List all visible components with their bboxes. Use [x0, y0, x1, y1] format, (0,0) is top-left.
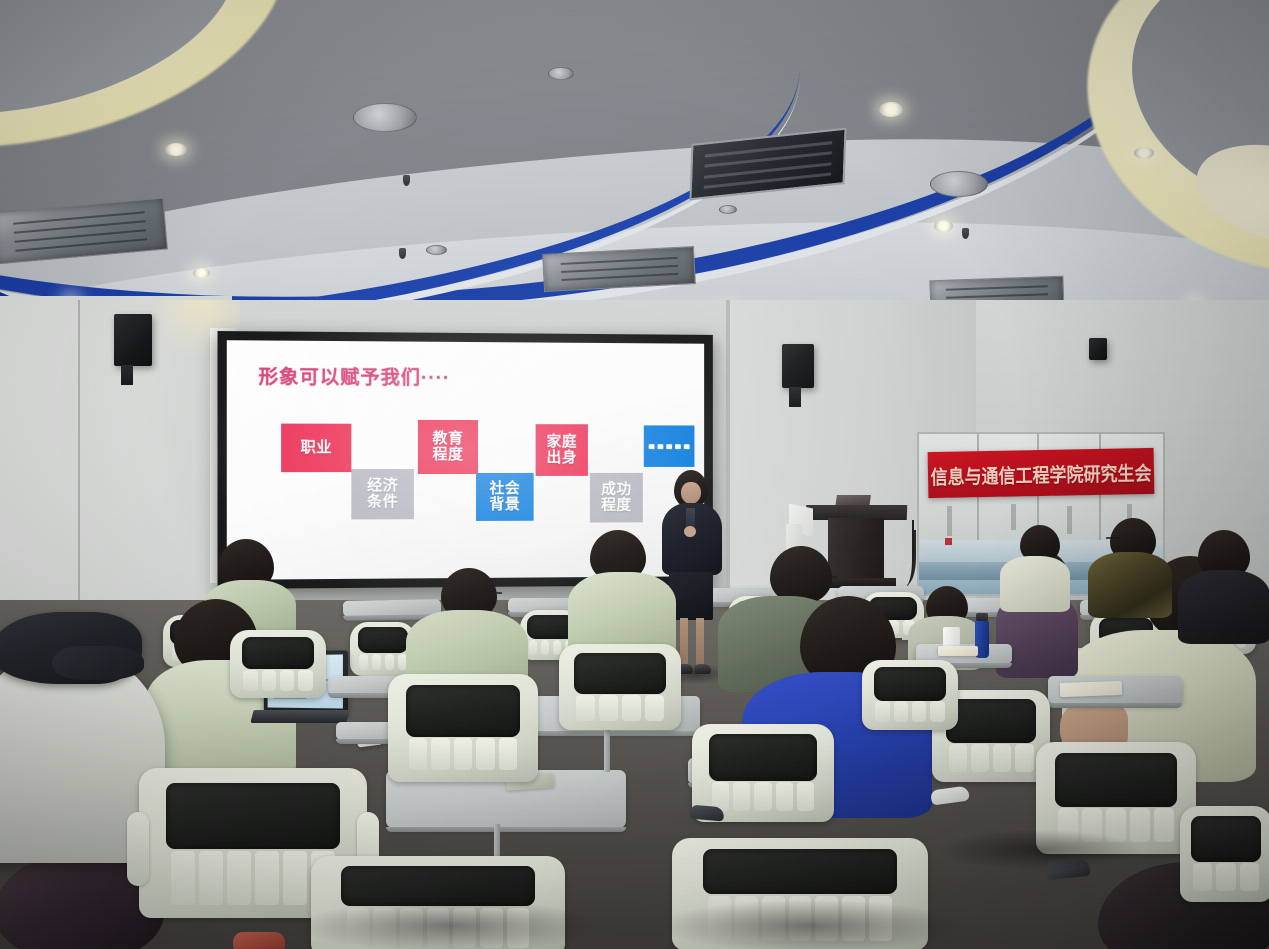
papers-stack-1[interactable] — [1060, 681, 1122, 697]
slide-box-profession: 职业 — [281, 424, 351, 473]
glasses-icon-3 — [489, 592, 502, 597]
slide-title: 形象可以赋予我们···· — [259, 362, 451, 390]
podium-cable-2 — [896, 530, 916, 585]
wall-speaker-far-right — [1089, 338, 1107, 360]
left-wall-seam — [78, 300, 80, 600]
downlight-4 — [879, 102, 903, 117]
event-banner: 信息与通信工程学院研究生会 — [928, 448, 1155, 498]
ceiling-vent-dot-2 — [426, 245, 447, 255]
chair-foreground-9[interactable] — [1180, 806, 1269, 902]
presenter-leg-right — [696, 618, 704, 668]
ceiling-vent-dot-3 — [719, 205, 737, 214]
presenter-hand — [684, 526, 696, 537]
downlight-2 — [193, 268, 210, 278]
desk-post-2 — [604, 728, 610, 772]
slide-box-ellipsis — [644, 425, 695, 467]
downlight-5 — [934, 220, 953, 232]
chair-foreground-2[interactable] — [388, 674, 538, 782]
right-wall-column — [726, 300, 730, 600]
presenter-leg-left — [680, 618, 688, 668]
wall-speaker-left — [114, 314, 152, 366]
podium-body — [828, 518, 884, 584]
audience-torso-9 — [1088, 552, 1172, 618]
red-object-floor — [233, 932, 285, 949]
sprinkler-head-3 — [962, 228, 969, 239]
slide-box-economic: 经济 条件 — [351, 469, 414, 519]
desk-tablet-back-1 — [343, 599, 441, 617]
wall-speaker-right-bracket — [789, 387, 801, 407]
papers-stack-2[interactable] — [938, 646, 978, 656]
wall-speaker-right — [782, 344, 814, 388]
audience-torso-10 — [1178, 570, 1269, 644]
downlight-1 — [165, 143, 187, 156]
chair-midground-2[interactable] — [862, 660, 958, 730]
slide-box-success: 成功 程度 — [590, 473, 643, 523]
glasses-icon-6 — [884, 638, 902, 643]
presenter-face — [681, 482, 701, 504]
draped-jacket-sleeve — [52, 646, 144, 680]
laptop-keyboard[interactable] — [250, 710, 349, 723]
sprinkler-head-2 — [399, 248, 406, 259]
slide-box-social: 社会 背景 — [476, 473, 534, 521]
chair-foreground-3[interactable] — [559, 644, 681, 730]
floor-shadow-1 — [300, 900, 600, 949]
ceiling-vent-dot-1 — [548, 67, 574, 80]
ceiling-speaker-1 — [353, 103, 417, 132]
glasses-icon-5 — [822, 576, 837, 581]
audience-torso-11 — [1000, 556, 1070, 612]
event-banner-text: 信息与通信工程学院研究生会 — [930, 457, 1152, 490]
slide-box-education: 教育 程度 — [418, 420, 478, 474]
wall-speaker-left-bracket — [121, 365, 133, 385]
downlight-6 — [1134, 147, 1154, 159]
floor-shadow-3 — [940, 830, 1140, 870]
glasses-icon-9 — [1106, 537, 1120, 542]
ceiling-speaker-2 — [930, 171, 988, 197]
floor-shadow-2 — [660, 900, 960, 949]
sprinkler-head-1 — [403, 175, 410, 186]
chair-midground-1[interactable] — [230, 630, 326, 698]
water-bottle-cap — [976, 613, 988, 621]
lecture-hall-photo: 形象可以赋予我们···· 职业 经济 条件 教育 程度 社会 背景 家庭 出身 … — [0, 0, 1269, 949]
slide-box-family: 家庭 出身 — [536, 424, 588, 476]
ceiling — [0, 0, 1269, 336]
ac-vent-mid — [542, 246, 696, 292]
